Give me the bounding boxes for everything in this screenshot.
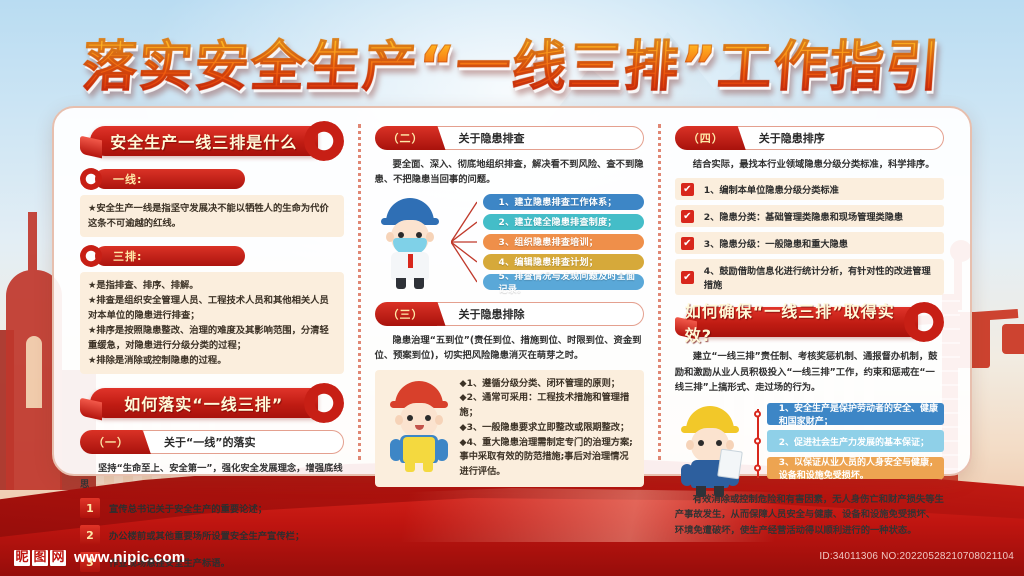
leg-right (423, 461, 433, 472)
banner-fold-decor (80, 136, 102, 159)
banner-ensure-effect: 如何确保“一线三排”取得实效? (685, 305, 944, 339)
list-item: 1、编制本单位隐患分级分类标准 (675, 178, 944, 200)
building-window (26, 336, 42, 408)
logo-char: 网 (50, 550, 66, 566)
list-item: 1 宣传总书记关于安全生产的重要论述； (80, 498, 344, 518)
paragraph: ★排序是按照隐患整改、治理的难度及其影响范围，分清轻重缓急，对隐患进行分级分类的… (88, 323, 336, 353)
nipic-logo: 昵 图 网 (14, 550, 66, 566)
section-title: 关于隐患排序 (737, 126, 944, 150)
section-tab-one: （一） 关于“一线”的落实 (80, 430, 344, 454)
list-text: 4、鼓励借助信息化进行统计分析，有针对性的改进管理措施 (704, 263, 938, 291)
banner-how-to: 如何落实“一线三排” (90, 386, 344, 420)
list-item: 2、隐患分类：基础管理类隐患和现场管理类隐患 (675, 205, 944, 227)
benefits-list: 1、安全生产是保护劳动者的安全、健康和国家财产； 2、促进社会生产力发展的基本保… (751, 403, 944, 484)
subhead-sanpai: 三排: (80, 245, 344, 267)
face (400, 403, 438, 437)
list-item: 3、组织隐患排查培训； (483, 234, 644, 250)
checkbox-checked-icon (681, 183, 694, 196)
banner-title: 安全生产一线三排是什么 (110, 129, 297, 153)
list-item: 2 办公楼前或其他重要场所设置安全生产宣传栏； (80, 525, 344, 545)
elimination-card: ◆1、遵循分级分类、闭环管理的原则； ◆2、通常可采用：工程技术措施和管理措施；… (375, 370, 644, 487)
leg-right (714, 486, 724, 497)
necktie (408, 254, 413, 268)
mouth (415, 425, 424, 430)
section-tab-three: （三） 关于隐患排除 (375, 302, 644, 326)
connector-lines (451, 194, 477, 290)
eye-left (698, 440, 704, 446)
section-number: （一） (80, 430, 142, 454)
list-text: 2、隐患分类：基础管理类隐患和现场管理类隐患 (704, 209, 903, 223)
checkbox-checked-icon (681, 271, 694, 284)
section-tab-two: （二） 关于隐患排查 (375, 126, 644, 150)
column-divider (658, 124, 661, 460)
screening-flow-diagram: 1、建立隐患排查工作体系； 2、建立健全隐患排查制度； 3、组织隐患排查培训； … (375, 194, 644, 290)
list-item: 4、鼓励借助信息化进行统计分析，有针对性的改进管理措施 (675, 259, 944, 295)
list-item: ◆3、一般隐患要求立即整改或限期整改； (460, 421, 635, 436)
arm-left (681, 464, 693, 486)
timeline-dot (754, 411, 761, 418)
ear-right (435, 415, 443, 425)
elimination-principles-list: ◆1、遵循分级分类、闭环管理的原则； ◆2、通常可采用：工程技术措施和管理措施；… (460, 377, 635, 480)
banner-title: 如何确保“一线三排”取得实效? (685, 298, 918, 346)
paragraph: ★安全生产一线是指坚守发展决不能以牺牲人的生命为代价这条不可逾越的红线。 (88, 201, 336, 231)
section-tab-four: （四） 关于隐患排序 (675, 126, 944, 150)
eye-right (425, 415, 431, 421)
checkbox-checked-icon (681, 237, 694, 250)
list-item: 1、建立隐患排查工作体系； (483, 194, 644, 210)
logo-char: 图 (32, 550, 48, 566)
poster-title-area: 落实安全生产“一线三排”工作指引 (0, 22, 1024, 101)
watermark-footer: 昵 图 网 www.nipic.com (14, 549, 185, 566)
list-number: 1 (80, 498, 100, 518)
eye-right (416, 232, 422, 238)
list-number: 2 (80, 525, 100, 545)
list-item: 1、安全生产是保护劳动者的安全、健康和国家财产； (767, 403, 944, 425)
benefits-timeline: 1、安全生产是保护劳动者的安全、健康和国家财产； 2、促进社会生产力发展的基本保… (675, 402, 944, 486)
column-divider (358, 124, 361, 460)
list-item: ◆2、通常可采用：工程技术措施和管理措施； (460, 391, 635, 420)
eye-left (407, 415, 413, 421)
list-text: 办公楼前或其他重要场所设置安全生产宣传栏； (109, 528, 304, 542)
list-text: 3、以保证从业人员的人身安全与健康，设备和设施免受损坏。 (779, 455, 944, 481)
screening-steps-list: 1、建立隐患排查工作体系； 2、建立健全隐患排查制度； 3、组织隐患排查培训； … (483, 194, 644, 290)
eye-left (398, 232, 404, 238)
gear-icon (304, 121, 344, 161)
paragraph: ★排除是消除或控制隐患的过程。 (88, 353, 336, 368)
paragraph-final-state: 有效消除或控制危险和有害因素，无人身伤亡和财产损失等生产事故发生，从而保障人员安… (675, 492, 944, 538)
banner-what-is: 安全生产一线三排是什么 (90, 124, 344, 158)
leg-left (696, 486, 706, 497)
text-sanpai-definition: ★是指排查、排序、排解。 ★排查是组织安全管理人员、工程技术人员和其他相关人员对… (80, 272, 344, 374)
paragraph-ranking: 结合实际，最找本行业领域隐患分级分类标准，科学排序。 (675, 157, 944, 172)
worker-illustration-red-helmet (384, 377, 454, 465)
subhead-yixian: 一线: (80, 168, 344, 190)
list-item: 2、建立健全隐患排查制度； (483, 214, 644, 230)
leg-left (405, 461, 415, 472)
list-item: 4、编辑隐患排查计划； (483, 254, 644, 270)
subhead-label: 三排: (95, 246, 245, 266)
subhead-label: 一线: (95, 169, 245, 189)
section-number: （二） (375, 126, 437, 150)
banner-title: 如何落实“一线三排” (124, 391, 283, 415)
paragraph-screening: 要全面、深入、彻底地组织排查，解决看不到风险、查不到隐患、不把隐患当回事的问题。 (375, 157, 644, 188)
ear-right (726, 440, 734, 450)
column-middle: （二） 关于隐患排查 要全面、深入、彻底地组织排查，解决看不到风险、查不到隐患、… (363, 120, 656, 464)
list-text: 3、隐患分级：一般隐患和重大隐患 (704, 236, 848, 250)
list-item: ◆1、遵循分级分类、闭环管理的原则； (460, 377, 635, 392)
section-number: （四） (675, 126, 737, 150)
gear-icon (80, 245, 102, 267)
list-text: 2、促进社会生产力发展的基本保证； (779, 435, 929, 448)
section-title: 关于“一线”的落实 (142, 430, 344, 454)
list-item: 5、排查情况与发现问题及时全面记录。 (483, 274, 644, 290)
clipboard-icon (717, 448, 743, 479)
list-item: 3、以保证从业人员的人身安全与健康，设备和设施免受损坏。 (767, 457, 944, 479)
list-item: 3、隐患分级：一般隐患和重大隐患 (675, 232, 944, 254)
text-yixian-definition: ★安全生产一线是指坚守发展决不能以牺牲人的生命为代价这条不可逾越的红线。 (80, 195, 344, 237)
checkbox-checked-icon (681, 210, 694, 223)
ear-right (426, 232, 434, 242)
column-left: 安全生产一线三排是什么 一线: ★安全生产一线是指坚守发展决不能以牺牲人的生命为… (68, 120, 356, 464)
nipic-url: www.nipic.com (74, 549, 185, 566)
worker-illustration-yellow-helmet (675, 402, 745, 486)
section-title: 关于隐患排除 (437, 302, 644, 326)
logo-char: 昵 (14, 550, 30, 566)
crane-hook-icon (1002, 324, 1024, 354)
gear-icon (80, 168, 102, 190)
section-number: （三） (375, 302, 437, 326)
worker-illustration-blue-helmet (375, 194, 445, 290)
leg-right (414, 278, 424, 289)
arm-left (390, 439, 402, 461)
section-title: 关于隐患排查 (437, 126, 644, 150)
safety-vest (403, 437, 435, 463)
image-id-code: ID:34011306 NO:20220528210708021104 (819, 551, 1014, 562)
timeline-dot (754, 465, 761, 472)
paragraph-elimination: 隐患治理“五到位”(责任到位、措施到位、时限到位、资金到位、预案到位)，切实把风… (375, 333, 644, 364)
ear-left (395, 415, 403, 425)
eye-right (716, 440, 722, 446)
ear-left (686, 440, 694, 450)
list-text: 1、编制本单位隐患分级分类标准 (704, 182, 839, 196)
paragraph: ★排查是组织安全管理人员、工程技术人员和其他相关人员对本单位的隐患进行排查； (88, 293, 336, 323)
paragraph-yixian-implementation: 坚持“生命至上、安全第一”，强化安全发展理念，增强底线思 (80, 461, 344, 492)
gear-icon (304, 383, 344, 423)
page-title: 落实安全生产“一线三排”工作指引 (80, 22, 945, 101)
leg-left (396, 278, 406, 289)
banner-fold-decor (80, 398, 102, 421)
arm-right (436, 439, 448, 461)
paragraph: ★是指排查、排序、排解。 (88, 278, 336, 293)
content-board: 安全生产一线三排是什么 一线: ★安全生产一线是指坚守发展决不能以牺牲人的生命为… (52, 106, 972, 476)
list-item: ◆4、重大隐患治理需制定专门的治理方案;事中采取有效的防范措施;事后对治理情况进… (460, 436, 635, 480)
list-item: 2、促进社会生产力发展的基本保证； (767, 430, 944, 452)
timeline-dot (754, 438, 761, 445)
paragraph-ensure: 建立“一线三排”责任制、考核奖惩机制、通报督办机制，鼓励和激励从业人员积极投入“… (675, 349, 944, 395)
column-right: （四） 关于隐患排序 结合实际，最找本行业领域隐患分级分类标准，科学排序。 1、… (663, 120, 956, 464)
list-text: 宣传总书记关于安全生产的重要论述； (109, 501, 267, 515)
list-text: 1、安全生产是保护劳动者的安全、健康和国家财产； (779, 401, 944, 427)
